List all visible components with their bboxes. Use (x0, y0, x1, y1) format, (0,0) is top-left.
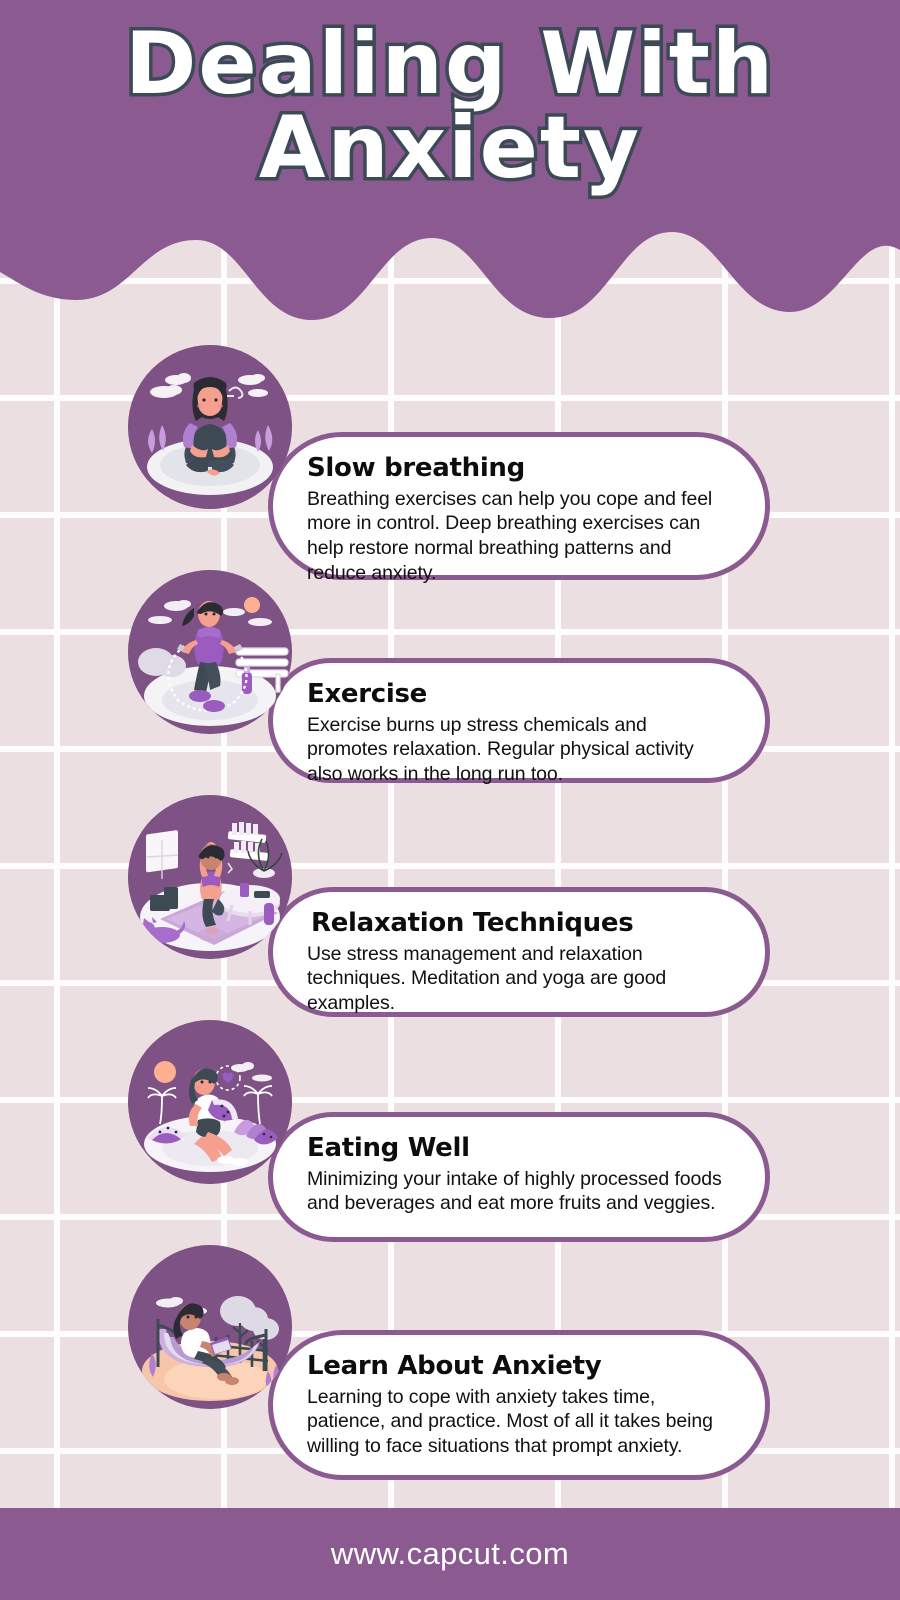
eating-well-icon (128, 1020, 292, 1184)
reading-icon (128, 1245, 292, 1409)
card-heading: Exercise (307, 679, 731, 711)
meditation-illustration (128, 345, 292, 509)
card-heading: Slow breathing (307, 453, 731, 485)
title-line-2: Anxiety (0, 106, 900, 190)
meditation-icon (128, 345, 292, 509)
page-title: Dealing With Anxiety (0, 22, 900, 191)
card-heading: Relaxation Techniques (307, 908, 731, 940)
info-card[interactable]: Exercise Exercise burns up stress chemic… (268, 658, 770, 783)
header-banner: Dealing With Anxiety (0, 0, 900, 330)
card-body: Learning to cope with anxiety takes time… (307, 1385, 731, 1459)
footer-bar: www.capcut.com (0, 1508, 900, 1600)
footer-url[interactable]: www.capcut.com (331, 1536, 569, 1572)
list-item: Eating Well Minimizing your intake of hi… (0, 1020, 900, 1250)
card-body: Use stress management and relaxation tec… (307, 942, 731, 1016)
yoga-icon (128, 795, 292, 959)
list-item: Exercise Exercise burns up stress chemic… (0, 570, 900, 800)
card-heading: Eating Well (307, 1133, 731, 1165)
list-item: Relaxation Techniques Use stress managem… (0, 795, 900, 1025)
card-body: Exercise burns up stress chemicals and p… (307, 713, 731, 787)
card-heading: Learn About Anxiety (307, 1351, 731, 1383)
jump-rope-icon (128, 570, 292, 734)
infographic-poster: Dealing With Anxiety Slow breathing Brea… (0, 0, 900, 1600)
title-line-1: Dealing With (0, 22, 900, 106)
yoga-illustration (128, 795, 292, 959)
info-card[interactable]: Relaxation Techniques Use stress managem… (268, 887, 770, 1017)
info-card[interactable]: Slow breathing Breathing exercises can h… (268, 432, 770, 580)
eating-well-illustration (128, 1020, 292, 1184)
card-body: Minimizing your intake of highly process… (307, 1167, 731, 1217)
list-item: Slow breathing Breathing exercises can h… (0, 345, 900, 580)
info-card[interactable]: Eating Well Minimizing your intake of hi… (268, 1112, 770, 1242)
jump-rope-illustration (128, 570, 292, 734)
list-item: Learn About Anxiety Learning to cope wit… (0, 1245, 900, 1495)
info-card[interactable]: Learn About Anxiety Learning to cope wit… (268, 1330, 770, 1480)
reading-illustration (128, 1245, 292, 1409)
